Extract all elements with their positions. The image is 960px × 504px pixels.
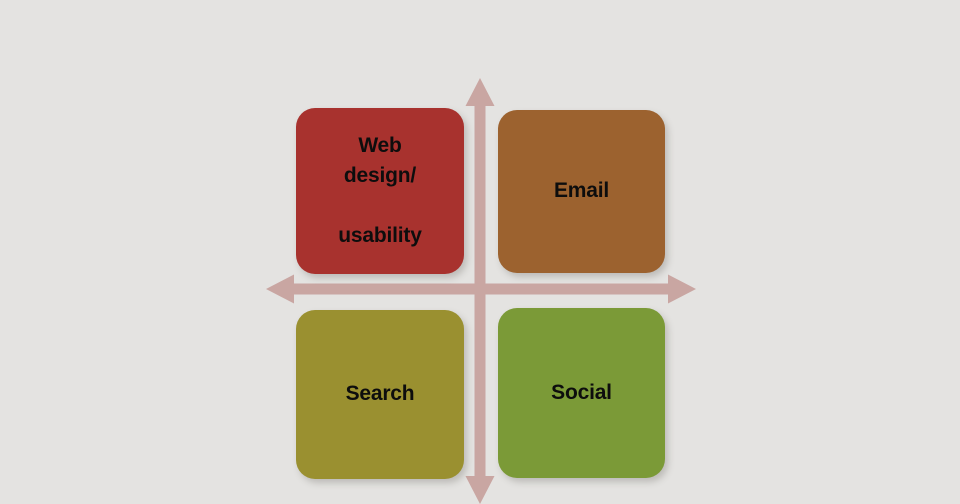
- quadrant-web-design-usability[interactable]: Web design/ usability: [296, 108, 464, 274]
- diagram-canvas: Web design/ usability Email Search Socia…: [0, 0, 960, 504]
- vertical-axis-arrow: [466, 78, 495, 504]
- axes-group: [0, 0, 960, 504]
- quadrant-label-email: Email: [546, 178, 617, 205]
- horizontal-axis-arrow: [266, 275, 696, 304]
- quadrant-social[interactable]: Social: [498, 308, 665, 478]
- quadrant-email[interactable]: Email: [498, 110, 665, 273]
- quadrant-label-search: Search: [338, 381, 423, 408]
- quadrant-label-social: Social: [543, 380, 620, 407]
- quadrant-label-web-design-usability: Web design/ usability: [330, 131, 429, 250]
- quadrant-search[interactable]: Search: [296, 310, 464, 479]
